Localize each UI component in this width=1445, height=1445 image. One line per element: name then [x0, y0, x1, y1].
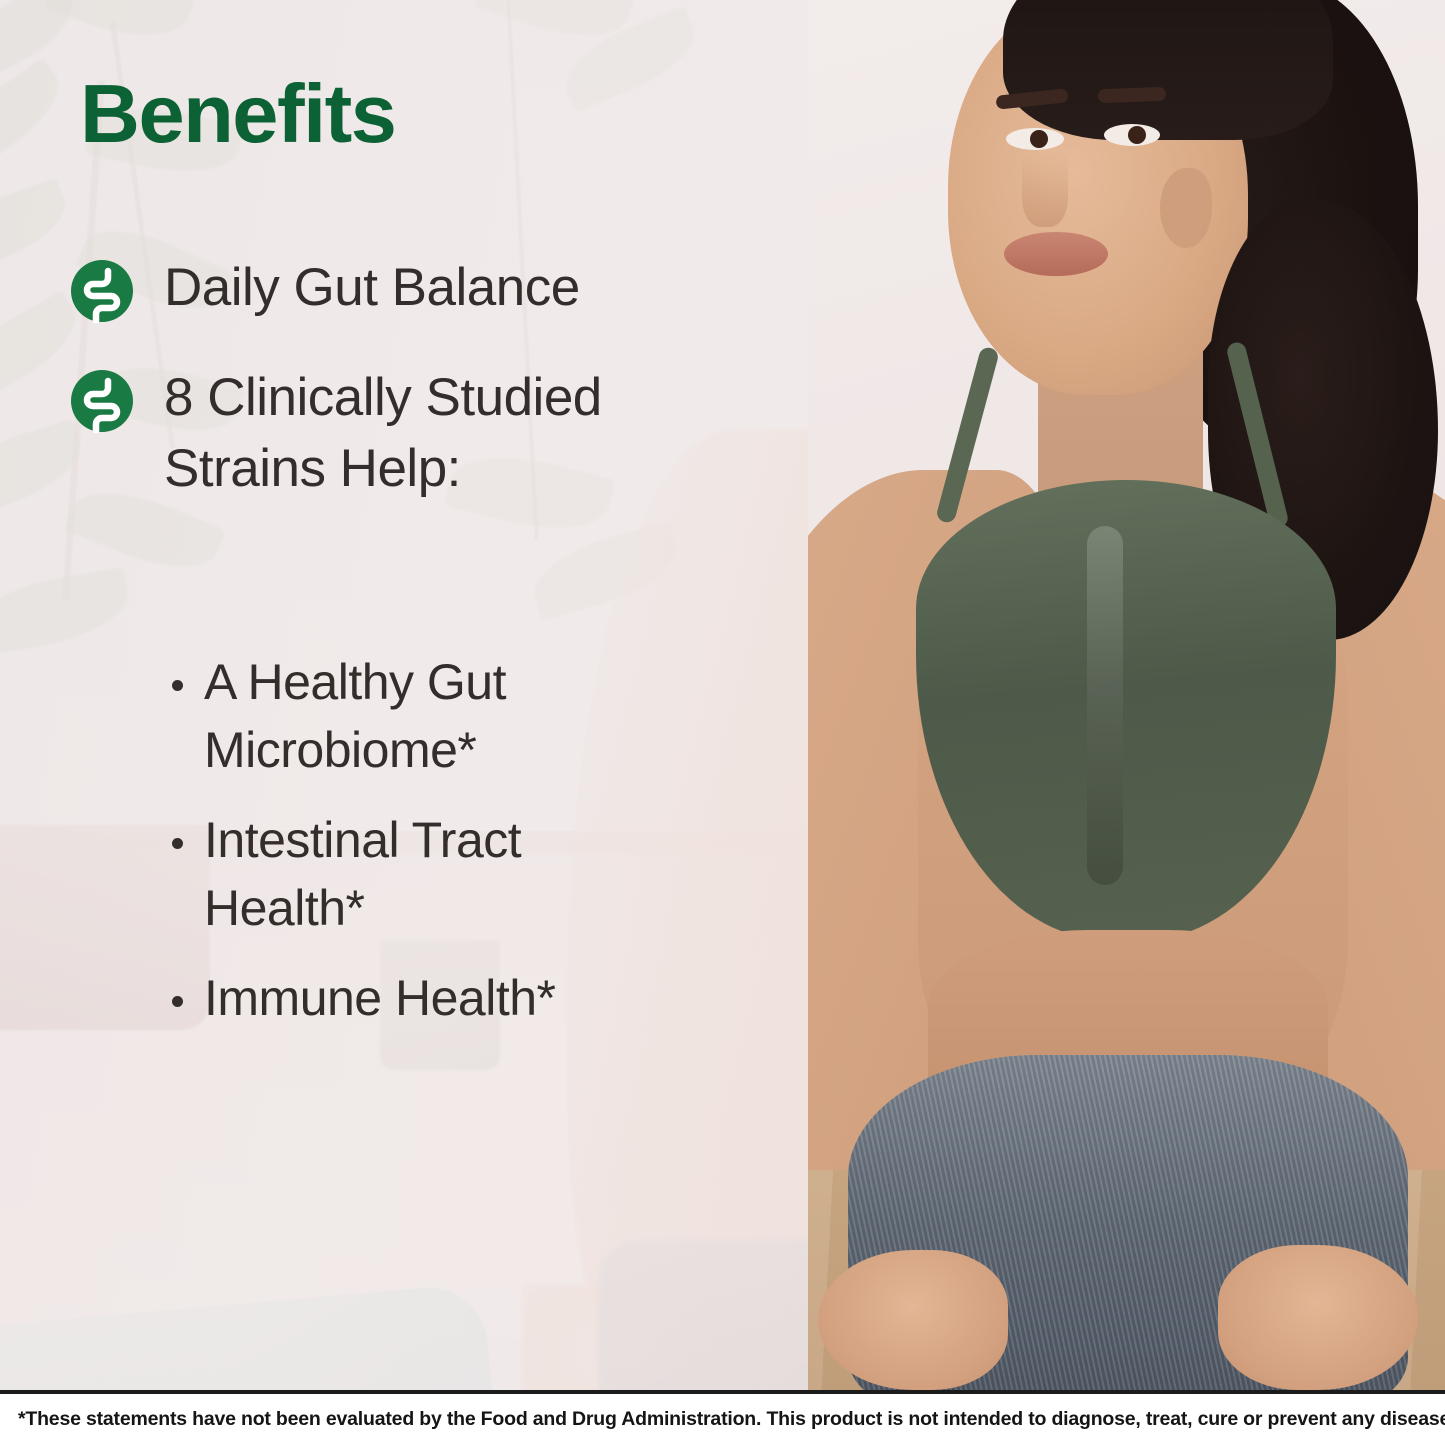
model-ear: [1160, 168, 1212, 248]
model-hair-top: [1003, 0, 1333, 140]
benefits-content: Benefits Daily Gut Balance: [0, 0, 808, 1390]
benefit-label: 8 Clinically Studied Strains Help:: [164, 362, 634, 505]
product-benefits-graphic: Benefits Daily Gut Balance: [0, 0, 1445, 1445]
page-title: Benefits: [80, 72, 395, 155]
model-hand-right: [1218, 1245, 1418, 1390]
model-eyebrow-right: [1098, 87, 1166, 103]
gut-icon: [70, 259, 134, 323]
model-nose: [1022, 155, 1068, 227]
model-lips: [1004, 232, 1108, 276]
bullet-dot-icon: [172, 996, 183, 1007]
bullet-dot-icon: [172, 680, 183, 691]
sub-benefits-list: A Healthy Gut Microbiome* Intestinal Tra…: [172, 648, 792, 1054]
model-eye-right: [1104, 124, 1160, 146]
benefits-list: Daily Gut Balance 8 Clinically Studied S…: [70, 252, 770, 519]
sub-benefit-item: A Healthy Gut Microbiome*: [172, 648, 792, 784]
model-hand-left: [818, 1250, 1008, 1390]
disclaimer-text: *These statements have not been evaluate…: [0, 1408, 1445, 1431]
gut-icon: [70, 369, 134, 433]
bullet-dot-icon: [172, 838, 183, 849]
benefit-item: Daily Gut Balance: [70, 252, 770, 324]
sub-benefit-label: A Healthy Gut Microbiome*: [204, 648, 674, 784]
sub-benefit-label: Intestinal Tract Health*: [204, 806, 694, 942]
benefit-item: 8 Clinically Studied Strains Help:: [70, 362, 770, 505]
sub-benefit-item: Intestinal Tract Health*: [172, 806, 792, 942]
disclaimer-bar: *These statements have not been evaluate…: [0, 1390, 1445, 1445]
sub-benefit-label: Immune Health*: [204, 964, 556, 1032]
benefit-label: Daily Gut Balance: [164, 252, 580, 324]
model-photo: [808, 0, 1445, 1390]
sub-benefit-item: Immune Health*: [172, 964, 792, 1032]
model-eye-left: [1006, 128, 1064, 150]
